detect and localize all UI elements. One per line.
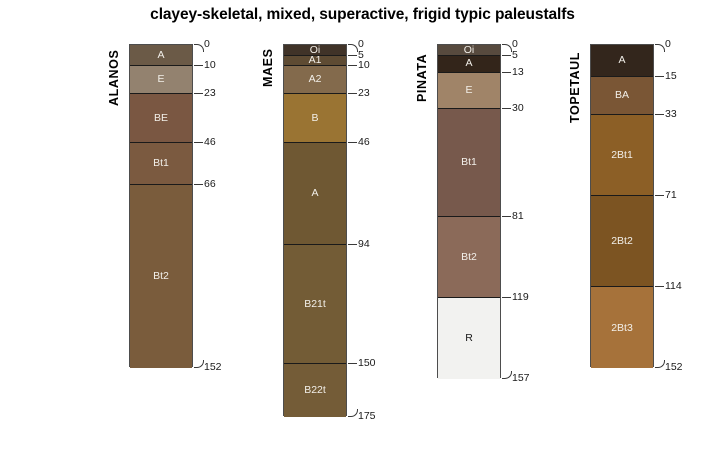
depth-tick-mark [194,142,203,143]
horizon-label: Oi [464,45,475,55]
depth-tick-label: 46 [358,137,370,148]
depth-tick-mark [348,244,357,245]
horizon-label: B [311,113,318,124]
depth-tick-label: 157 [512,373,530,384]
horizon-a: A [130,45,192,66]
horizon-b: B [284,94,346,143]
depth-tick-mark [194,65,203,66]
depth-tick-mark [348,65,357,66]
profile-column: OiAEBt1Bt2R [437,44,501,378]
horizon-label: Bt1 [153,158,169,169]
horizon-b21t: B21t [284,245,346,364]
depth-tick-label: 46 [204,137,216,148]
depth-tick-label: 150 [358,358,376,369]
horizon-2bt1: 2Bt1 [591,115,653,196]
depth-tick-mark [348,409,358,417]
horizon-e: E [130,66,192,94]
depth-tick-mark [655,114,664,115]
depth-tick-mark [502,297,511,298]
depth-tick-mark [348,93,357,94]
horizon-a: A [438,56,500,73]
depth-tick-mark [655,44,665,52]
profile-name-label: MAES [261,44,275,92]
horizon-label: A [618,55,625,66]
horizon-bt2: Bt2 [438,217,500,298]
depth-tick-mark [348,44,358,52]
depth-tick-label: 0 [204,39,210,50]
depth-tick-mark [502,72,511,73]
depth-tick-mark [348,363,357,364]
profile-column: OiA1A2BAB21tB22t [283,44,347,416]
depth-tick-label: 30 [512,103,524,114]
profile-column: ABA2Bt12Bt22Bt3 [590,44,654,367]
depth-tick-label: 114 [665,281,682,292]
depth-tick-mark [655,76,664,77]
horizon-label: A [157,50,164,61]
depth-tick-mark [502,371,512,379]
depth-tick-label: 13 [512,67,524,78]
depth-tick-label: 0 [512,39,518,50]
horizon-label: BA [615,90,629,101]
horizon-label: B22t [304,385,326,396]
depth-tick-label: 5 [512,50,518,61]
depth-tick-label: 119 [512,292,529,303]
depth-tick-mark [194,184,203,185]
depth-tick-mark [348,142,357,143]
horizon-be: BE [130,94,192,143]
horizon-label: 2Bt3 [611,323,633,334]
horizon-a: A [284,143,346,245]
horizon-label: Bt2 [153,271,169,282]
horizon-2bt3: 2Bt3 [591,287,653,368]
depth-tick-label: 0 [358,39,364,50]
depth-tick-mark [655,286,664,287]
depth-tick-mark [194,360,204,368]
depth-tick-label: 33 [665,109,677,120]
horizon-a: A [591,45,653,77]
horizon-label: R [465,333,473,344]
horizon-label: 2Bt2 [611,236,633,247]
depth-tick-mark [502,108,511,109]
horizon-label: B21t [304,299,326,310]
horizon-e: E [438,73,500,109]
depth-tick-mark [502,44,512,52]
depth-tick-label: 0 [665,39,671,50]
depth-tick-mark [348,55,357,56]
horizon-oi: Oi [438,45,500,56]
horizon-label: 2Bt1 [611,150,633,161]
horizon-label: Bt2 [461,252,477,263]
page-title: clayey-skeletal, mixed, superactive, fri… [0,6,725,24]
horizon-ba: BA [591,77,653,115]
depth-tick-label: 81 [512,211,524,222]
depth-tick-mark [655,195,664,196]
profile-name-label: PINATA [415,44,429,111]
depth-tick-mark [655,360,665,368]
depth-tick-mark [194,93,203,94]
depth-tick-mark [502,216,511,217]
depth-tick-label: 66 [204,179,216,190]
depth-tick-label: 152 [665,362,683,373]
depth-tick-label: 175 [358,411,376,422]
depth-tick-mark [502,55,511,56]
horizon-r: R [438,298,500,379]
depth-tick-label: 94 [358,239,370,250]
horizon-label: E [157,74,164,85]
depth-tick-label: 23 [204,88,216,99]
horizon-a2: A2 [284,66,346,94]
depth-tick-mark [194,44,204,52]
depth-tick-label: 15 [665,71,677,82]
horizon-oi: Oi [284,45,346,56]
horizon-bt1: Bt1 [130,143,192,186]
profile-name-label: TOPETAUL [568,44,582,130]
depth-tick-label: 152 [204,362,222,373]
horizon-label: A1 [309,56,322,66]
horizon-label: A [311,188,318,199]
depth-tick-label: 10 [358,60,370,71]
profile-name-label: ALANOS [107,44,121,111]
horizon-label: E [465,85,472,96]
horizon-label: A [465,58,472,69]
horizon-label: A2 [309,74,322,85]
horizon-b22t: B22t [284,364,346,417]
horizon-bt1: Bt1 [438,109,500,217]
depth-tick-label: 10 [204,60,216,71]
horizon-a1: A1 [284,56,346,67]
profile-column: AEBEBt1Bt2 [129,44,193,367]
horizon-label: BE [154,113,168,124]
depth-tick-label: 23 [358,88,370,99]
horizon-2bt2: 2Bt2 [591,196,653,287]
horizon-label: Bt1 [461,157,477,168]
horizon-bt2: Bt2 [130,185,192,368]
horizon-label: Oi [310,45,321,55]
depth-tick-label: 71 [665,190,677,201]
